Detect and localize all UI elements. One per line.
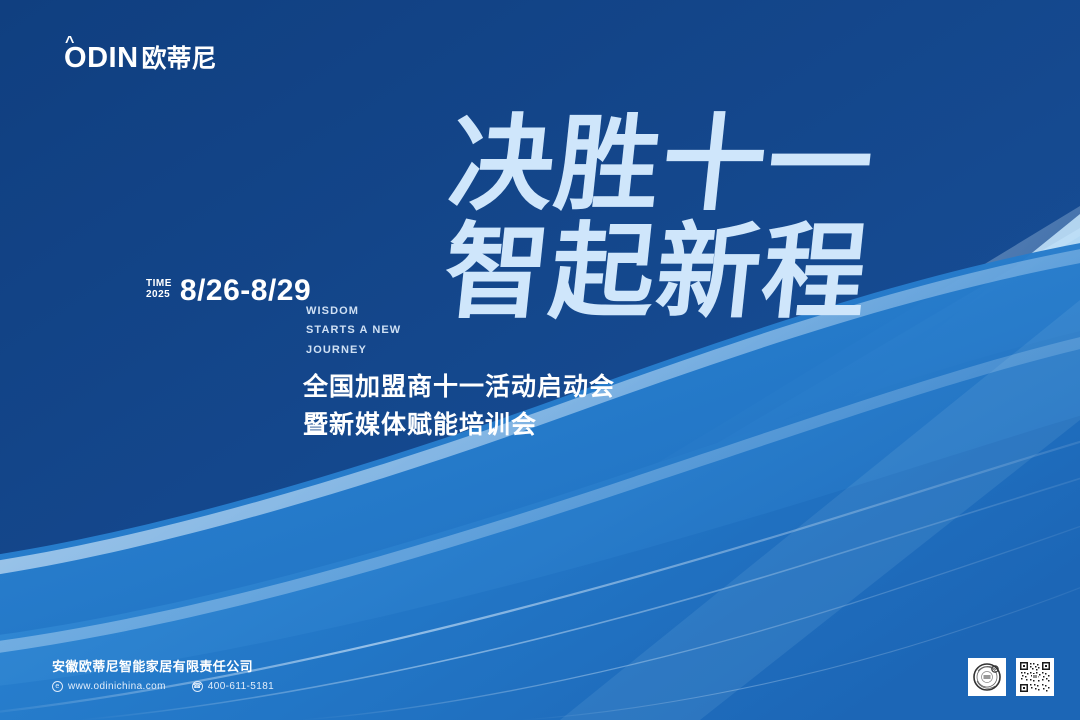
company-name: 安徽欧蒂尼智能家居有限责任公司 bbox=[52, 657, 274, 677]
phone-icon: ☎ bbox=[192, 681, 203, 692]
globe-icon: e bbox=[52, 681, 63, 692]
date-range: 8/26-8/29 bbox=[180, 276, 311, 306]
tagline-line-3: JOURNEY bbox=[306, 341, 401, 360]
date-label-time: TIME bbox=[146, 279, 172, 290]
website-url: www.odinichina.com bbox=[68, 681, 166, 692]
seal-icon bbox=[971, 661, 1003, 693]
website-item: e www.odinichina.com bbox=[52, 681, 166, 692]
brand-logo-latin: ^ ODIN bbox=[64, 44, 139, 73]
macron-accent: ^ bbox=[65, 35, 75, 51]
tagline-line-1: WISDOM bbox=[306, 302, 401, 321]
code-tiles bbox=[968, 658, 1054, 696]
date-label-year: 2025 bbox=[146, 290, 172, 301]
headline-line-2: 智起新程 bbox=[440, 215, 875, 331]
brand-logo-rest: DIN bbox=[87, 42, 138, 74]
event-subtitle: 全国加盟商十一活动启动会 暨新媒体赋能培训会 bbox=[303, 368, 615, 444]
circular-seal-logo[interactable] bbox=[968, 658, 1006, 696]
headline-calligraphy: 决胜十一 智起新程 bbox=[440, 108, 910, 338]
headline-svg: 决胜十一 智起新程 bbox=[440, 108, 910, 338]
english-tagline: WISDOM STARTS A NEW JOURNEY bbox=[306, 302, 401, 360]
tagline-line-2: STARTS A NEW bbox=[306, 321, 401, 340]
phone-item: ☎ 400-611-5181 bbox=[192, 681, 274, 692]
poster-canvas: ^ ODIN 欧蒂尼 决胜十一 智起新程 TIME 2025 8/26-8/29 bbox=[0, 0, 1080, 720]
event-date: TIME 2025 8/26-8/29 bbox=[146, 276, 311, 306]
brand-logo: ^ ODIN 欧蒂尼 bbox=[64, 44, 217, 73]
brand-logo-chinese: 欧蒂尼 bbox=[142, 46, 217, 73]
headline-line-1: 决胜十一 bbox=[444, 108, 880, 223]
date-label: TIME 2025 bbox=[146, 279, 172, 303]
qr-code-icon bbox=[1019, 661, 1051, 693]
contact-row: e www.odinichina.com ☎ 400-611-5181 bbox=[52, 681, 274, 692]
phone-number: 400-611-5181 bbox=[208, 681, 274, 692]
footer-info: 安徽欧蒂尼智能家居有限责任公司 e www.odinichina.com ☎ 4… bbox=[52, 657, 274, 693]
subtitle-line-1: 全国加盟商十一活动启动会 bbox=[303, 368, 615, 406]
qr-code[interactable] bbox=[1016, 658, 1054, 696]
subtitle-line-2: 暨新媒体赋能培训会 bbox=[303, 406, 615, 444]
